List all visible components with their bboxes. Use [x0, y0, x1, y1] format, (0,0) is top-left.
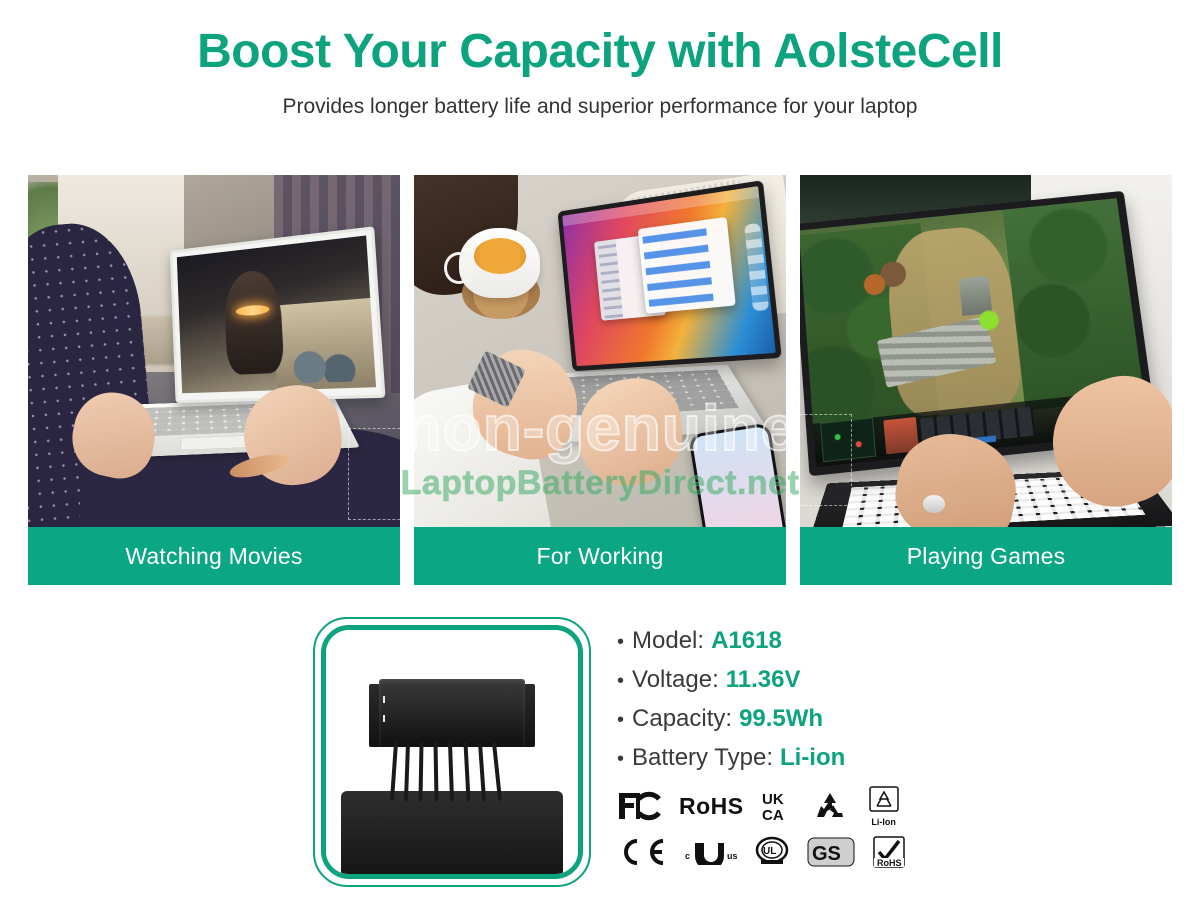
page-subtitle: Provides longer battery life and superio… — [0, 95, 1200, 119]
macbook-screen — [563, 186, 776, 366]
ce-icon — [617, 837, 667, 867]
ul-icon: UL — [755, 836, 789, 868]
laptop-screen-movie — [177, 236, 376, 394]
movie-rocks — [287, 342, 363, 384]
spec-value-voltage: 11.36V — [726, 666, 801, 694]
game-hero-marker — [975, 307, 1004, 333]
ukca-icon: UK CA — [762, 790, 796, 822]
smartphone — [688, 423, 786, 527]
card-caption-watching-movies: Watching Movies — [28, 527, 400, 585]
certification-row-1: RoHS UK CA — [617, 783, 917, 829]
spec-value-model: A1618 — [711, 627, 782, 655]
spec-label-battery-type: Battery Type: — [632, 744, 773, 772]
svg-text:CA: CA — [762, 807, 784, 822]
movie-character — [223, 269, 284, 375]
finger-ring — [923, 495, 945, 513]
svg-text:GS: GS — [812, 843, 841, 865]
spec-label-capacity: Capacity: — [632, 705, 732, 733]
macos-dock — [745, 223, 769, 311]
bullet-icon: • — [617, 632, 624, 652]
photo-for-working — [414, 175, 786, 527]
battery-image-frame — [313, 617, 591, 887]
connector-pin — [383, 715, 385, 722]
svg-text:us: us — [727, 851, 737, 861]
spec-label-model: Model: — [632, 627, 704, 655]
cup-handle — [444, 252, 474, 284]
page-title: Boost Your Capacity with AolsteCell — [0, 26, 1200, 79]
window-sidebar — [594, 239, 623, 321]
culus-icon: c us — [685, 839, 737, 865]
battery-wires — [389, 742, 515, 801]
photo-playing-games — [800, 175, 1172, 527]
product-marketing-page: Boost Your Capacity with AolsteCell Prov… — [0, 0, 1200, 900]
connector-pin — [383, 696, 385, 703]
card-caption-for-working: For Working — [414, 527, 786, 585]
li-ion-label: Li-Ion — [871, 817, 896, 827]
recycle-icon — [814, 791, 846, 821]
macos-window-messages — [638, 217, 736, 314]
spec-value-capacity: 99.5Wh — [739, 705, 823, 733]
battery-connector-block — [379, 679, 525, 747]
usage-scenario-cards: Watching Movies — [28, 175, 1174, 585]
svg-text:UL: UL — [763, 846, 776, 857]
product-detail-section: • Model: A1618 • Voltage: 11.36V • Capac… — [0, 605, 1200, 900]
macbook-lid — [558, 180, 782, 371]
certification-badges: RoHS UK CA — [617, 783, 917, 875]
fcc-icon — [617, 791, 661, 821]
svg-text:RoHS: RoHS — [877, 858, 902, 868]
rohs-check-icon: RoHS — [873, 836, 905, 868]
spec-row-voltage: • Voltage: 11.36V — [617, 666, 947, 694]
certification-row-2: c us UL GS — [617, 829, 917, 875]
spec-value-battery-type: Li-ion — [780, 744, 845, 772]
battery-product-photo — [326, 630, 578, 874]
card-playing-games[interactable]: Playing Games — [800, 175, 1172, 585]
bullet-icon: • — [617, 671, 624, 691]
battery-body — [341, 791, 563, 874]
svg-text:c: c — [685, 851, 690, 861]
bullet-icon: • — [617, 710, 624, 730]
gs-icon: GS — [807, 837, 855, 867]
game-camp — [847, 256, 915, 304]
card-for-working[interactable]: For Working — [414, 175, 786, 585]
specification-list: • Model: A1618 • Voltage: 11.36V • Capac… — [617, 627, 947, 783]
game-lane-path — [883, 223, 1025, 419]
spec-label-voltage: Voltage: — [632, 666, 719, 694]
laptop-lid — [170, 227, 385, 404]
battery-image-inner-frame — [321, 625, 583, 879]
photo-watching-movies — [28, 175, 400, 527]
game-minimap — [820, 417, 876, 462]
spec-row-battery-type: • Battery Type: Li-ion — [617, 744, 947, 772]
tea-liquid — [474, 238, 526, 273]
bullet-icon: • — [617, 749, 624, 769]
svg-text:UK: UK — [762, 791, 784, 808]
rohs-icon: RoHS — [679, 793, 744, 820]
li-ion-recycle-icon: Li-Ion — [864, 786, 904, 827]
spec-row-capacity: • Capacity: 99.5Wh — [617, 705, 947, 733]
card-caption-playing-games: Playing Games — [800, 527, 1172, 585]
page-header: Boost Your Capacity with AolsteCell Prov… — [0, 0, 1200, 119]
spec-row-model: • Model: A1618 — [617, 627, 947, 655]
card-watching-movies[interactable]: Watching Movies — [28, 175, 400, 585]
